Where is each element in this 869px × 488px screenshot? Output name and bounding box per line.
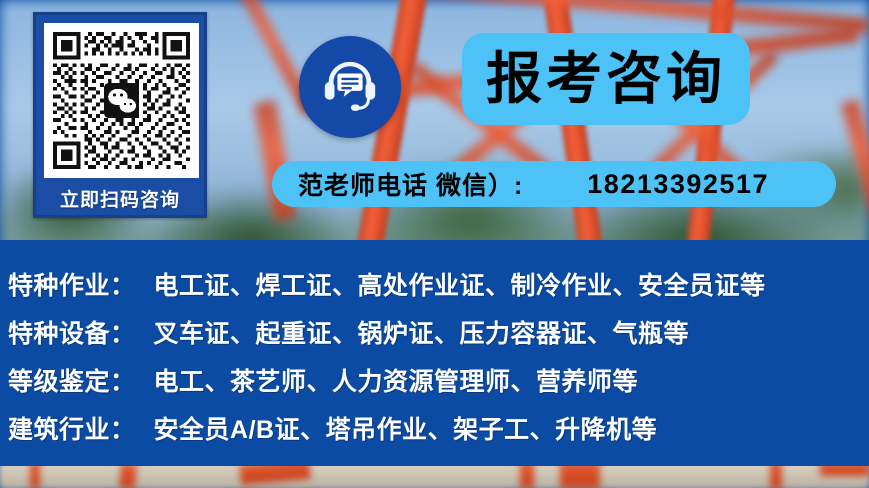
qr-card[interactable]: 立即扫码咨询 [33, 12, 207, 218]
qr-code-icon [49, 28, 194, 173]
list-item: 特种设备： 叉车证、起重证、锅炉证、压力容器证、气瓶等 [8, 314, 689, 350]
row-category: 特种作业： [8, 266, 136, 302]
row-items: 安全员A/B证、塔吊作业、架子工、升降机等 [154, 410, 658, 446]
row-items: 电工、茶艺师、人力资源管理师、营养师等 [154, 362, 639, 398]
certification-list-panel: 特种作业： 电工证、焊工证、高处作业证、制冷作业、安全员证等 特种设备： 叉车证… [0, 240, 869, 466]
row-category: 建筑行业： [8, 410, 136, 446]
headset-support-badge [299, 36, 401, 138]
headset-support-icon [319, 56, 381, 118]
list-item: 建筑行业： 安全员A/B证、塔吊作业、架子工、升降机等 [8, 410, 657, 446]
title-badge-text: 报考咨询 [486, 51, 726, 107]
contact-phone-number[interactable]: 18213392517 [587, 169, 769, 200]
row-category: 特种设备： [8, 314, 136, 350]
contact-phone-pill[interactable]: 范老师电话 微信）: 18213392517 [272, 161, 836, 207]
row-items: 叉车证、起重证、锅炉证、压力容器证、气瓶等 [154, 314, 690, 350]
list-item: 等级鉴定： 电工、茶艺师、人力资源管理师、营养师等 [8, 362, 638, 398]
promo-banner: 立即扫码咨询 报考咨询 范老师电话 微信）: 18213392517 特种 [0, 0, 869, 488]
qr-code-image [44, 23, 199, 178]
row-category: 等级鉴定： [8, 362, 136, 398]
contact-label: 范老师电话 微信）: [298, 166, 523, 202]
row-items: 电工证、焊工证、高处作业证、制冷作业、安全员证等 [154, 266, 766, 302]
qr-card-label: 立即扫码咨询 [36, 191, 204, 210]
title-badge: 报考咨询 [462, 33, 750, 125]
list-item: 特种作业： 电工证、焊工证、高处作业证、制冷作业、安全员证等 [8, 266, 766, 302]
